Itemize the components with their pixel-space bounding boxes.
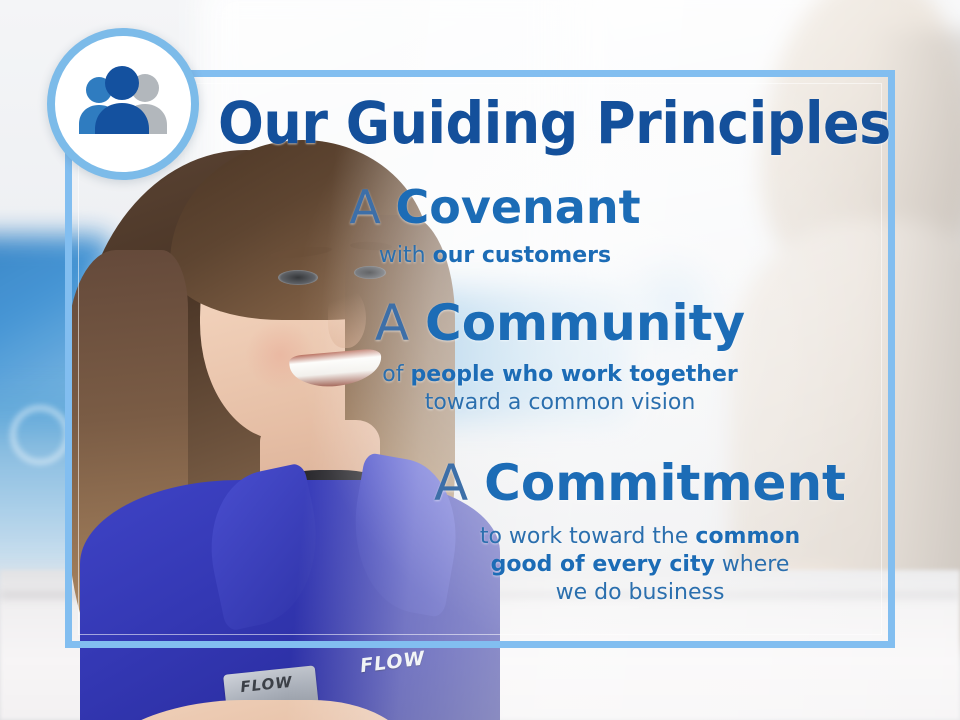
principles-list: A Covenant with our customers A Communit… bbox=[0, 0, 960, 720]
principle-text: where bbox=[715, 552, 790, 577]
principle-line: to work toward the common bbox=[405, 523, 875, 551]
principle-text: of bbox=[382, 362, 410, 387]
principle-keyword: Community bbox=[425, 294, 745, 352]
principle-article: A bbox=[349, 180, 380, 234]
principle-covenant: A Covenant with our customers bbox=[275, 184, 715, 270]
principle-community: A Community of people who work together … bbox=[330, 298, 790, 417]
principle-keyword: Commitment bbox=[484, 454, 846, 512]
principle-heading: A Commitment bbox=[405, 458, 875, 509]
principle-keyword: Covenant bbox=[396, 180, 641, 234]
principle-commitment: A Commitment to work toward the common g… bbox=[405, 458, 875, 607]
principle-line: with our customers bbox=[275, 242, 715, 270]
principle-line: good of every city where bbox=[405, 551, 875, 579]
principle-line: of people who work together bbox=[330, 361, 790, 389]
principle-description: to work toward the common good of every … bbox=[405, 523, 875, 607]
principle-description: with our customers bbox=[275, 242, 715, 270]
principle-text-strong: our customers bbox=[433, 243, 612, 268]
principle-line: toward a common vision bbox=[330, 389, 790, 417]
principle-text: with bbox=[379, 243, 433, 268]
principle-text-strong: good of every city bbox=[491, 552, 715, 577]
principle-text: we do business bbox=[556, 580, 725, 605]
principle-text: toward a common vision bbox=[425, 390, 696, 415]
principle-heading: A Covenant bbox=[275, 184, 715, 231]
principle-text-strong: people who work together bbox=[410, 362, 737, 387]
principle-article: A bbox=[375, 294, 409, 352]
principle-heading: A Community bbox=[330, 298, 790, 349]
principle-text: to work toward the bbox=[480, 524, 696, 549]
principle-description: of people who work together toward a com… bbox=[330, 361, 790, 417]
principle-line: we do business bbox=[405, 579, 875, 607]
guiding-principles-graphic: FLOW FLOW bbox=[0, 0, 960, 720]
principle-text-strong: common bbox=[695, 524, 800, 549]
principle-article: A bbox=[434, 454, 468, 512]
